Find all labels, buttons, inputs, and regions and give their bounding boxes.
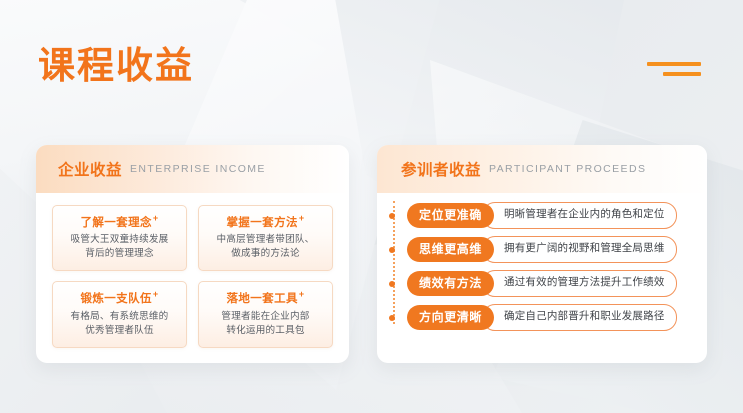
enterprise-card-title-cn: 企业收益 <box>58 158 122 180</box>
list-item-desc: 通过有效的管理方法提升工作绩效 <box>482 270 677 297</box>
benefit-box-title-text: 落地一套工具 <box>226 293 297 305</box>
benefit-box-desc-line: 做成事的方法论 <box>205 247 326 261</box>
list-item[interactable]: 绩效有方法 通过有效的管理方法提升工作绩效 <box>407 271 693 296</box>
benefit-box-desc-line: 吸管大王双童持续发展 <box>59 233 180 247</box>
benefit-box-title-text: 锻炼一支队伍 <box>80 293 151 305</box>
benefit-box-title: 落地一套工具+ <box>205 290 326 305</box>
timeline-dot-icon <box>389 213 395 219</box>
participant-card-header: 参训者收益 PARTICIPANT PROCEEDS <box>377 145 707 193</box>
list-item-label: 方向更清晰 <box>407 305 494 330</box>
benefit-box-title-text: 掌握一套方法 <box>226 217 297 229</box>
benefit-box[interactable]: 锻炼一支队伍+ 有格局、有系统思维的 优秀管理者队伍 <box>52 281 187 347</box>
plus-icon: + <box>299 289 305 299</box>
benefit-box-title: 掌握一套方法+ <box>205 214 326 229</box>
list-item-label: 定位更准确 <box>407 203 494 228</box>
list-item[interactable]: 定位更准确 明晰管理者在企业内的角色和定位 <box>407 203 693 228</box>
benefit-box-desc-line: 中高层管理者带团队、 <box>205 233 326 247</box>
benefit-box-desc: 管理者能在企业内部 转化运用的工具包 <box>205 310 326 338</box>
enterprise-income-card: 企业收益 ENTERPRISE INCOME 了解一套理念+ 吸管大王双童持续发… <box>36 145 349 363</box>
enterprise-benefit-grid: 了解一套理念+ 吸管大王双童持续发展 背后的管理理念 掌握一套方法+ 中高层管理… <box>36 193 349 348</box>
timeline-dot-icon <box>389 247 395 253</box>
plus-icon: + <box>153 289 159 299</box>
plus-icon: + <box>299 213 305 223</box>
benefit-box[interactable]: 落地一套工具+ 管理者能在企业内部 转化运用的工具包 <box>198 281 333 347</box>
participant-proceeds-card: 参训者收益 PARTICIPANT PROCEEDS 定位更准确 明晰管理者在企… <box>377 145 707 363</box>
benefit-box-desc-line: 管理者能在企业内部 <box>205 310 326 324</box>
slide-root: 课程收益 企业收益 ENTERPRISE INCOME 了解一套理念+ 吸管大王… <box>0 0 743 413</box>
timeline-dotted-line <box>393 201 397 324</box>
decoration-bar-top <box>647 62 701 66</box>
list-item-label: 绩效有方法 <box>407 271 494 296</box>
benefit-box-desc-line: 优秀管理者队伍 <box>59 324 180 338</box>
benefit-box[interactable]: 掌握一套方法+ 中高层管理者带团队、 做成事的方法论 <box>198 205 333 271</box>
enterprise-card-title-en: ENTERPRISE INCOME <box>130 163 266 175</box>
page-title: 课程收益 <box>38 47 194 84</box>
timeline-dot-icon <box>389 281 395 287</box>
list-item[interactable]: 思维更高维 拥有更广阔的视野和管理全局思维 <box>407 237 693 262</box>
list-item-desc: 明晰管理者在企业内的角色和定位 <box>482 202 677 229</box>
benefit-box-desc: 有格局、有系统思维的 优秀管理者队伍 <box>59 310 180 338</box>
decoration-bar-bottom <box>663 72 701 76</box>
benefit-box-desc-line: 背后的管理理念 <box>59 247 180 261</box>
participant-card-title-en: PARTICIPANT PROCEEDS <box>489 163 646 175</box>
benefit-box-desc: 吸管大王双童持续发展 背后的管理理念 <box>59 233 180 261</box>
timeline-dot-icon <box>389 315 395 321</box>
plus-icon: + <box>153 213 159 223</box>
participant-card-title-cn: 参训者收益 <box>401 158 481 180</box>
benefit-box-desc: 中高层管理者带团队、 做成事的方法论 <box>205 233 326 261</box>
benefit-box-title-text: 了解一套理念 <box>80 217 151 229</box>
benefit-box-desc-line: 有格局、有系统思维的 <box>59 310 180 324</box>
benefit-box-desc-line: 转化运用的工具包 <box>205 324 326 338</box>
participant-benefit-list: 定位更准确 明晰管理者在企业内的角色和定位 思维更高维 拥有更广阔的视野和管理全… <box>377 193 707 330</box>
list-item-label: 思维更高维 <box>407 237 494 262</box>
benefit-box-title: 了解一套理念+ <box>59 214 180 229</box>
benefit-box[interactable]: 了解一套理念+ 吸管大王双童持续发展 背后的管理理念 <box>52 205 187 271</box>
list-item[interactable]: 方向更清晰 确定自己内部晋升和职业发展路径 <box>407 305 693 330</box>
benefit-box-title: 锻炼一支队伍+ <box>59 290 180 305</box>
list-item-desc: 拥有更广阔的视野和管理全局思维 <box>482 236 677 263</box>
enterprise-card-header: 企业收益 ENTERPRISE INCOME <box>36 145 349 193</box>
double-bar-decoration-icon <box>647 62 701 76</box>
list-item-desc: 确定自己内部晋升和职业发展路径 <box>482 304 677 331</box>
